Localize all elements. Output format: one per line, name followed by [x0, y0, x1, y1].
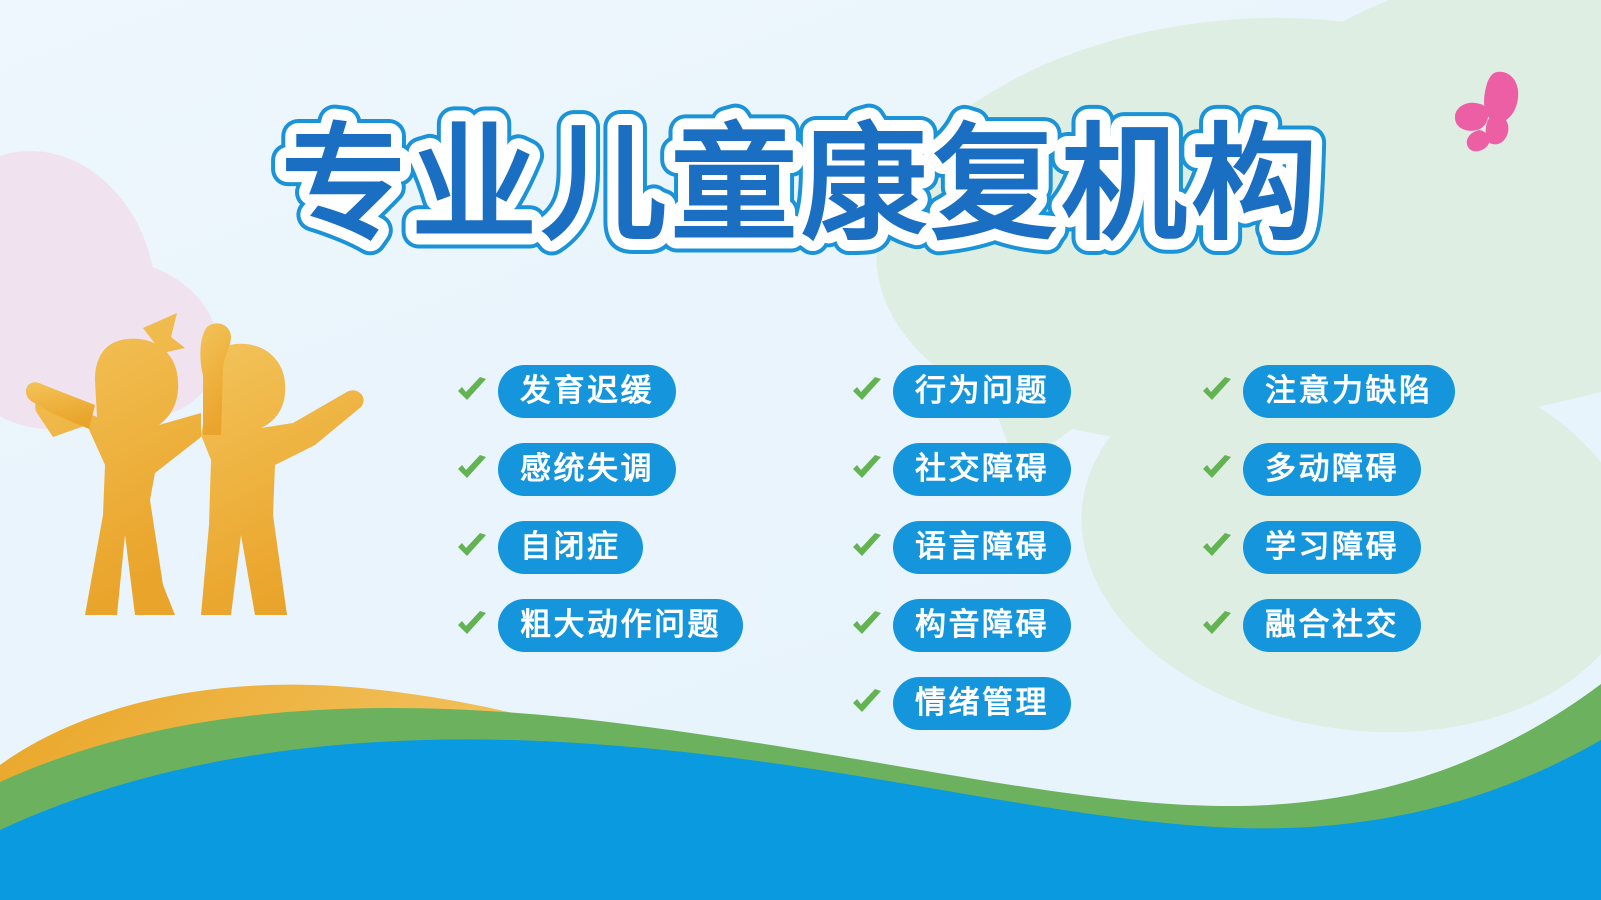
service-badge-item[interactable]: 感统失调: [455, 430, 850, 508]
service-badge-label: 注意力缺陷: [1265, 375, 1433, 406]
check-icon: [1200, 376, 1234, 406]
service-badge-pill[interactable]: 学习障碍: [1243, 521, 1421, 574]
check-icon: [850, 610, 884, 640]
service-badge-label: 社交障碍: [915, 453, 1049, 484]
service-badge-item[interactable]: 行为问题: [850, 352, 1200, 430]
service-badge-pill[interactable]: 语言障碍: [893, 521, 1071, 574]
service-badge-item[interactable]: 融合社交: [1200, 586, 1540, 664]
service-badge-label: 情绪管理: [915, 687, 1049, 718]
service-badge-item[interactable]: 情绪管理: [850, 664, 1200, 742]
promo-banner: 专业儿童康复机构 专业儿童康复机构 专业儿童康复机构 发育迟缓 感统失调: [0, 0, 1601, 900]
banner-title-container: 专业儿童康复机构 专业儿童康复机构 专业儿童康复机构: [0, 116, 1601, 266]
boy-figure: [201, 344, 364, 615]
service-badge-pill[interactable]: 行为问题: [893, 365, 1071, 418]
check-icon: [455, 376, 489, 406]
service-badge-label: 多动障碍: [1265, 453, 1399, 484]
service-badge-area: 发育迟缓 感统失调 自闭症 粗大动作问题 行为问题 社交障碍: [455, 352, 1540, 742]
service-badge-pill[interactable]: 情绪管理: [893, 677, 1071, 730]
service-badge-label: 融合社交: [1265, 609, 1399, 640]
service-badge-pill[interactable]: 融合社交: [1243, 599, 1421, 652]
check-icon: [850, 688, 884, 718]
service-badge-pill[interactable]: 感统失调: [498, 443, 676, 496]
wave-blue: [0, 739, 1601, 900]
service-column-1: 发育迟缓 感统失调 自闭症 粗大动作问题: [455, 352, 850, 664]
service-badge-pill[interactable]: 粗大动作问题: [498, 599, 743, 652]
service-badge-pill[interactable]: 构音障碍: [893, 599, 1071, 652]
check-icon: [455, 454, 489, 484]
service-badge-item[interactable]: 语言障碍: [850, 508, 1200, 586]
service-column-2: 行为问题 社交障碍 语言障碍 构音障碍 情绪管理: [850, 352, 1200, 742]
service-badge-item[interactable]: 学习障碍: [1200, 508, 1540, 586]
service-badge-item[interactable]: 发育迟缓: [455, 352, 850, 430]
service-badge-pill[interactable]: 注意力缺陷: [1243, 365, 1455, 418]
check-icon: [1200, 532, 1234, 562]
service-badge-label: 学习障碍: [1265, 531, 1399, 562]
service-badge-item[interactable]: 注意力缺陷: [1200, 352, 1540, 430]
service-badge-label: 行为问题: [915, 375, 1049, 406]
service-badge-item[interactable]: 自闭症: [455, 508, 850, 586]
service-badge-label: 感统失调: [520, 453, 654, 484]
service-badge-label: 发育迟缓: [520, 375, 654, 406]
service-badge-item[interactable]: 构音障碍: [850, 586, 1200, 664]
check-icon: [1200, 454, 1234, 484]
check-icon: [455, 532, 489, 562]
check-icon: [850, 532, 884, 562]
check-icon: [850, 454, 884, 484]
banner-title-text-fill: 专业儿童康复机构: [281, 111, 1321, 258]
service-badge-item[interactable]: 多动障碍: [1200, 430, 1540, 508]
service-badge-pill[interactable]: 多动障碍: [1243, 443, 1421, 496]
check-icon: [1200, 610, 1234, 640]
service-badge-item[interactable]: 粗大动作问题: [455, 586, 850, 664]
service-badge-label: 自闭症: [520, 531, 621, 562]
check-icon: [850, 376, 884, 406]
service-badge-label: 粗大动作问题: [520, 609, 721, 640]
service-badge-pill[interactable]: 发育迟缓: [498, 365, 676, 418]
service-badge-pill[interactable]: 社交障碍: [893, 443, 1071, 496]
service-badge-label: 构音障碍: [915, 609, 1049, 640]
service-badge-item[interactable]: 社交障碍: [850, 430, 1200, 508]
service-column-3: 注意力缺陷 多动障碍 学习障碍 融合社交: [1200, 352, 1540, 664]
check-icon: [455, 610, 489, 640]
banner-title: 专业儿童康复机构 专业儿童康复机构 专业儿童康复机构: [241, 116, 1361, 266]
service-badge-label: 语言障碍: [915, 531, 1049, 562]
children-silhouette-icon: [25, 285, 425, 735]
service-badge-pill[interactable]: 自闭症: [498, 521, 643, 574]
girl-figure: [35, 313, 201, 615]
